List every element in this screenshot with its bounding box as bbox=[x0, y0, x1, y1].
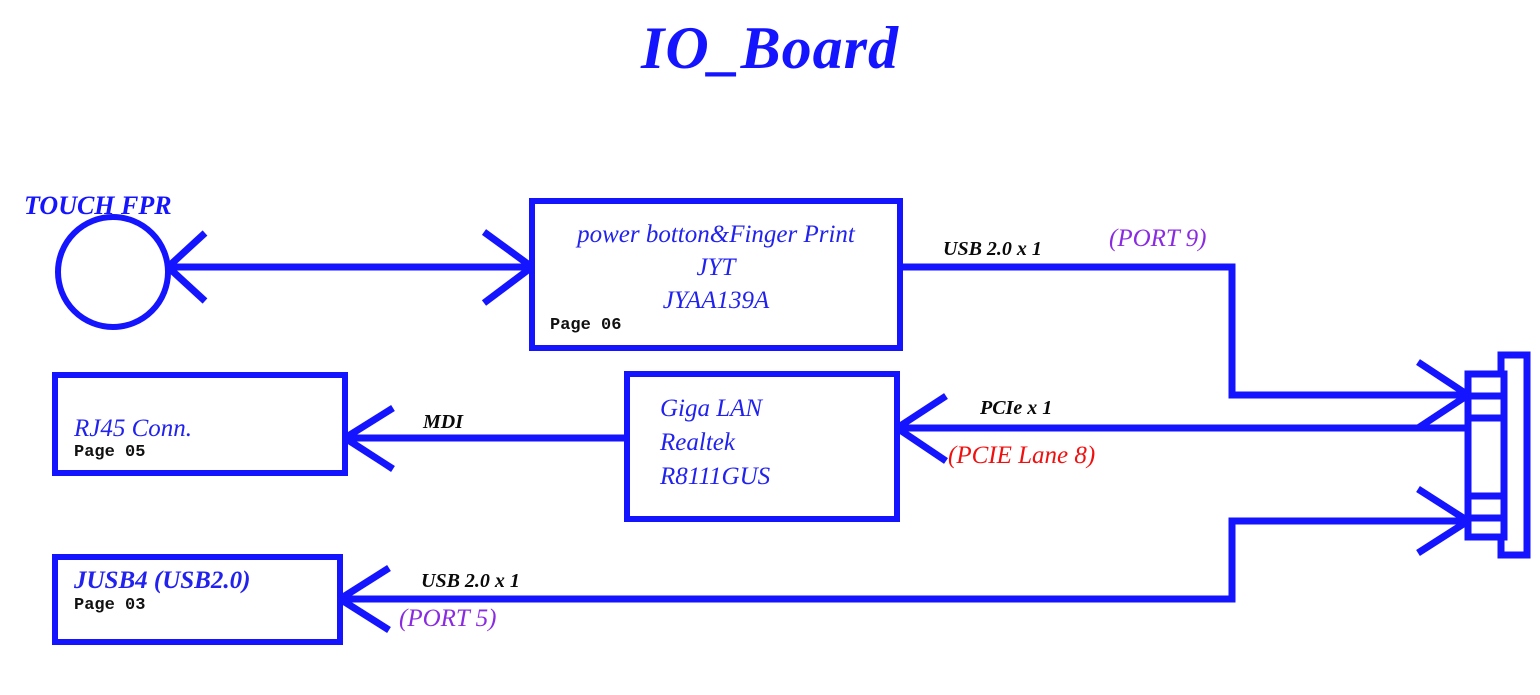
giga-lan-line2: Realtek bbox=[660, 428, 735, 458]
pcie-lane: (PCIE Lane 8) bbox=[948, 441, 1095, 471]
edge-connector-symbol[interactable] bbox=[1468, 355, 1527, 555]
touch-fpr-label: TOUCH FPR bbox=[24, 191, 172, 222]
wire-mdi bbox=[345, 408, 627, 469]
wire-usb-port5 bbox=[340, 489, 1468, 630]
jusb4-line1: JUSB4 (USB2.0) bbox=[74, 566, 250, 596]
power-button-line3: JYAA139A bbox=[540, 286, 892, 316]
giga-lan-line1: Giga LAN bbox=[660, 394, 762, 424]
wire-fpr-link bbox=[168, 232, 532, 303]
giga-lan-line3: R8111GUS bbox=[660, 462, 770, 492]
rj45-line1: RJ45 Conn. bbox=[74, 414, 192, 444]
jusb4-page: Page 03 bbox=[74, 596, 145, 616]
mdi-signal: MDI bbox=[423, 411, 463, 435]
usb-port5-signal: USB 2.0 x 1 bbox=[421, 570, 520, 594]
touch-fpr-circle[interactable] bbox=[58, 217, 168, 327]
pcie-signal: PCIe x 1 bbox=[980, 397, 1052, 421]
power-button-page: Page 06 bbox=[550, 316, 621, 336]
usb-port5-port: (PORT 5) bbox=[399, 604, 496, 634]
power-button-line2: JYT bbox=[540, 253, 892, 283]
usb-port9-port: (PORT 9) bbox=[1109, 224, 1206, 254]
io-board-diagram-canvas: IO_Board power button box : bidirection bbox=[0, 0, 1540, 695]
power-button-line1: power botton&Finger Print bbox=[540, 220, 892, 250]
usb-port9-signal: USB 2.0 x 1 bbox=[943, 238, 1042, 262]
rj45-page: Page 05 bbox=[74, 443, 145, 463]
